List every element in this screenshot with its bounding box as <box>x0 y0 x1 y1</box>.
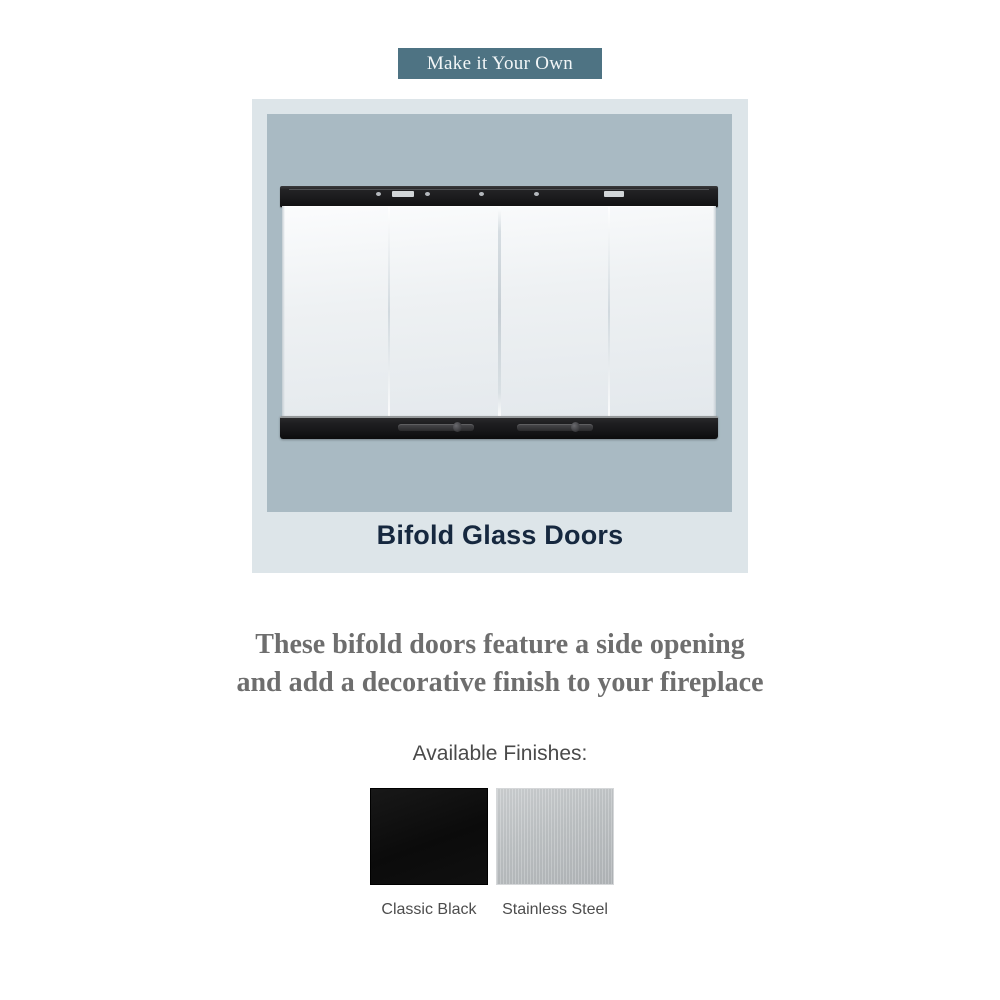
handle-knob-left <box>453 422 462 432</box>
swatch-label-classic-black: Classic Black <box>370 901 488 919</box>
product-feature-page: Make it Your Own <box>0 0 1000 1000</box>
rail-tab-icon <box>392 191 414 197</box>
rail-screw-icon <box>534 192 539 196</box>
product-photo <box>267 114 732 512</box>
center-door-seam <box>498 206 501 418</box>
available-finishes-heading: Available Finishes: <box>0 742 1000 766</box>
rail-tab-icon <box>604 191 624 197</box>
door-handle-left <box>398 424 474 431</box>
rail-screw-icon <box>376 192 381 196</box>
bottom-rail <box>280 416 718 439</box>
finish-option-stainless-steel[interactable]: Stainless Steel <box>496 788 614 919</box>
door-handle-right <box>517 424 593 431</box>
finish-swatch-row: Classic Black Stainless Steel <box>370 788 614 919</box>
glass-edge-left <box>282 206 285 418</box>
glass-panels <box>282 206 716 418</box>
rail-screw-icon <box>479 192 484 196</box>
swatch-chip-stainless-steel[interactable] <box>496 788 614 885</box>
description-line-1: These bifold doors feature a side openin… <box>0 626 1000 664</box>
top-rail <box>280 186 718 207</box>
product-caption: Bifold Glass Doors <box>252 520 748 551</box>
glass-panel-divider <box>388 206 390 418</box>
make-it-your-own-badge: Make it Your Own <box>398 48 602 79</box>
rail-screw-icon <box>425 192 430 196</box>
glass-panel-divider <box>608 206 610 418</box>
product-description: These bifold doors feature a side openin… <box>0 626 1000 702</box>
product-polaroid-card: Bifold Glass Doors <box>252 99 748 573</box>
description-line-2: and add a decorative finish to your fire… <box>0 664 1000 702</box>
swatch-label-stainless-steel: Stainless Steel <box>496 901 614 919</box>
finish-option-classic-black[interactable]: Classic Black <box>370 788 488 919</box>
glass-edge-right <box>713 206 716 418</box>
bifold-glass-doors-image <box>280 186 718 439</box>
swatch-chip-classic-black[interactable] <box>370 788 488 885</box>
badge-label: Make it Your Own <box>427 53 573 75</box>
